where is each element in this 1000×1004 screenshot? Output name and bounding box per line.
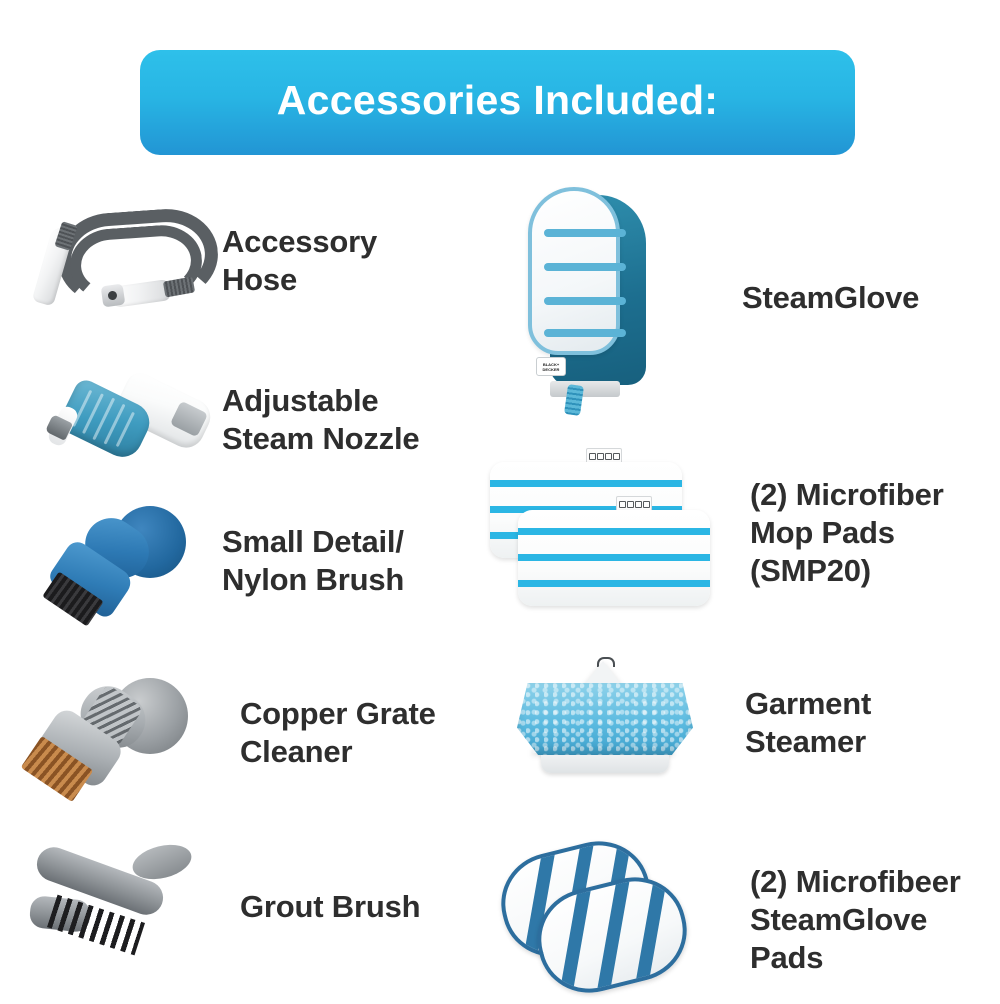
copper-grate-cleaner-illustration (20, 668, 220, 798)
accessory-label: Garment Steamer (745, 685, 871, 761)
brand-label-line2: DECKER (543, 367, 560, 372)
accessory-item-garment-steamer: Garment Steamer (505, 655, 871, 790)
accessory-item-accessory-hose: Accessory Hose (40, 205, 377, 317)
small-detail-nylon-brush-illustration (40, 498, 222, 623)
accessory-label: Small Detail/ Nylon Brush (222, 523, 404, 599)
adjustable-steam-nozzle-illustration (40, 370, 222, 470)
brand-label: BLACK+ DECKER (536, 357, 566, 376)
accessory-hose-illustration (40, 205, 222, 317)
microfiber-steamglove-pads-illustration (495, 845, 720, 995)
banner-title: Accessories Included: (277, 77, 719, 124)
accessory-label: (2) Microfiber Mop Pads (SMP20) (750, 476, 944, 590)
accessory-label: Copper Grate Cleaner (240, 695, 436, 771)
accessory-item-microfiber-steamglove-pads: (2) Microfibeer SteamGlove Pads (495, 845, 961, 995)
accessory-item-adjustable-steam-nozzle: Adjustable Steam Nozzle (40, 370, 419, 470)
accessory-label: SteamGlove (742, 279, 919, 317)
accessory-item-steamglove: BLACK+ DECKER SteamGlove (520, 185, 919, 410)
accessory-label: Accessory Hose (222, 223, 377, 299)
garment-steamer-illustration (505, 655, 705, 790)
grout-brush-illustration (20, 842, 220, 972)
accessory-item-grout-brush: Grout Brush (20, 842, 420, 972)
accessory-item-small-detail-nylon-brush: Small Detail/ Nylon Brush (40, 498, 404, 623)
accessories-included-banner: Accessories Included: (140, 50, 855, 155)
accessory-item-microfiber-mop-pads: (2) Microfiber Mop Pads (SMP20) (490, 440, 944, 625)
accessory-label: Grout Brush (240, 888, 420, 926)
steamglove-illustration: BLACK+ DECKER (520, 185, 690, 410)
accessory-label: Adjustable Steam Nozzle (222, 382, 419, 458)
microfiber-mop-pads-illustration (490, 440, 720, 625)
accessory-item-copper-grate-cleaner: Copper Grate Cleaner (20, 668, 436, 798)
accessory-label: (2) Microfibeer SteamGlove Pads (750, 863, 961, 977)
